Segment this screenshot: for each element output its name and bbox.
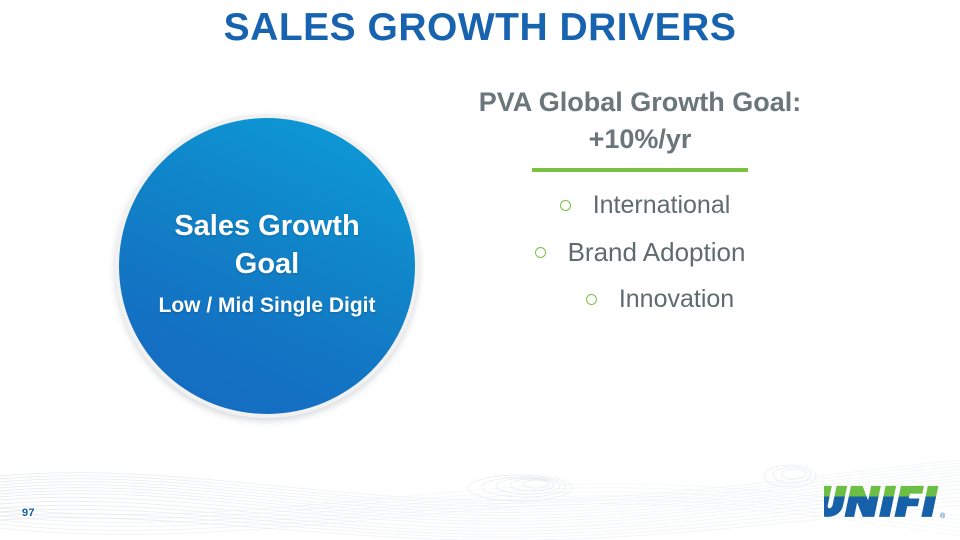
wave-ribbon-graphic: [0, 430, 960, 540]
circle-outline-bullet-icon: [586, 294, 597, 305]
unifi-logo: ®: [818, 481, 946, 521]
circle-outline-bullet-icon: [560, 200, 571, 211]
growth-drivers-panel: PVA Global Growth Goal: +10%/yr Internat…: [460, 84, 820, 331]
page-number: 97: [22, 507, 35, 519]
list-item: Innovation: [460, 284, 820, 314]
circle-heading: Sales Growth Goal: [142, 207, 392, 283]
pva-global-growth-goal-heading: PVA Global Growth Goal: +10%/yr: [460, 84, 820, 158]
list-item-label: Brand Adoption: [568, 237, 746, 267]
page-title: SALES GROWTH DRIVERS: [0, 4, 960, 52]
list-item-label: International: [593, 190, 731, 220]
list-item: International: [460, 190, 820, 220]
driver-list: International Brand Adoption Innovation: [460, 190, 820, 314]
circle-body: Sales Growth Goal Low / Mid Single Digit: [119, 118, 415, 414]
trademark-symbol: ®: [940, 512, 946, 520]
list-item: Brand Adoption: [460, 237, 820, 267]
list-item-label: Innovation: [619, 284, 734, 314]
slide-canvas: SALES GROWTH DRIVERS Sales Growth Goal L…: [0, 0, 960, 540]
green-divider: [532, 168, 748, 172]
circle-outline-bullet-icon: [535, 247, 546, 258]
circle-subtext: Low / Mid Single Digit: [142, 293, 392, 319]
sales-growth-goal-circle: Sales Growth Goal Low / Mid Single Digit: [115, 114, 419, 418]
